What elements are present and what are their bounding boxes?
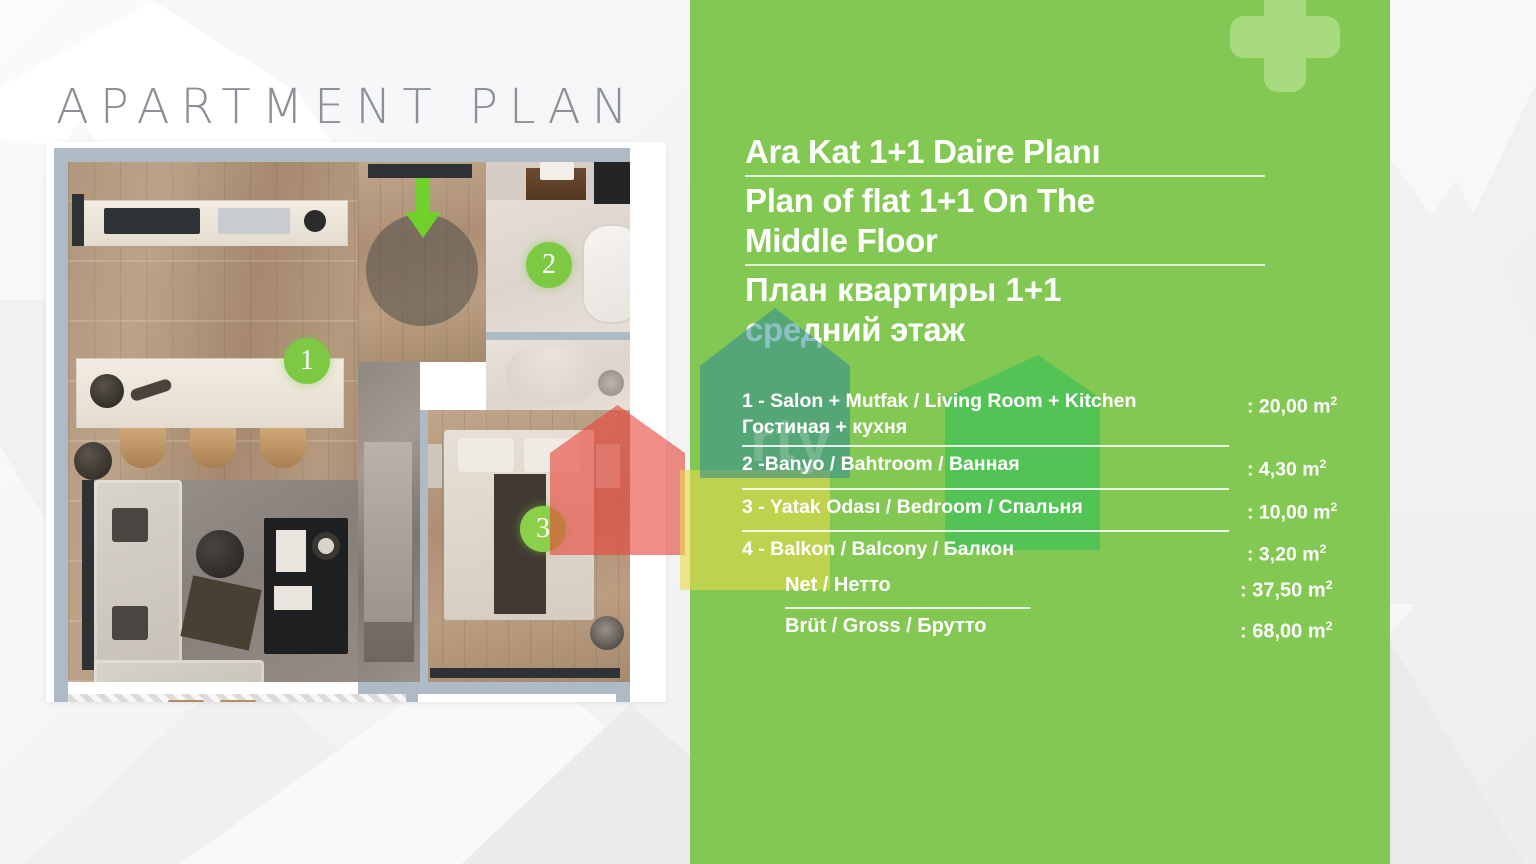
sofa-cushion <box>112 606 148 640</box>
toilet <box>506 346 598 404</box>
legend-rule <box>742 488 1229 490</box>
sofa-chaise <box>94 660 264 682</box>
legend-value: : 20,00 m2 <box>1239 388 1382 420</box>
total-label: Brüt / Gross / Брутто <box>785 611 1240 641</box>
entrance-arrow-icon <box>402 178 444 240</box>
room-bedroom: 3 <box>420 410 630 682</box>
table-tray <box>274 586 312 610</box>
wardrobe <box>364 442 412 622</box>
room-living-kitchen: 1 <box>68 162 358 682</box>
totals-rule <box>785 607 1030 609</box>
wall-bottom-right <box>358 682 630 694</box>
bathroom-lower <box>486 340 630 410</box>
legend-label: 4 - Balkon / Balcony / Балкон <box>742 536 1239 562</box>
legend-row: 1 - Salon + Mutfak / Living Room + Kitch… <box>742 388 1382 443</box>
legend-label: 3 - Yatak Odası / Bedroom / Спальня <box>742 494 1239 520</box>
badge-room-2: 2 <box>526 242 572 288</box>
title-russian-line1: План квартиры 1+1 <box>745 270 1265 310</box>
legend-label: 2 -Banyo / Bahtroom / Ванная <box>742 451 1239 477</box>
legend-row: 4 - Balkon / Balcony / Балкон : 3,20 m2 <box>742 536 1382 571</box>
legend-label-ru: Гостиная + кухня <box>742 414 1239 440</box>
badge-room-3: 3 <box>520 506 566 552</box>
total-row-gross: Brüt / Gross / Брутто : 68,00 m2 <box>785 611 1385 647</box>
room-balcony: 4 <box>68 694 418 702</box>
legend-value: : 3,20 m2 <box>1239 536 1382 568</box>
bedroom-lamp <box>590 616 624 650</box>
room-bathroom: 2 <box>486 162 630 332</box>
title-russian-line2: средний этаж <box>745 310 1265 350</box>
title-turkish: Ara Kat 1+1 Daire Planı <box>745 132 1265 172</box>
wall-bath-bottom <box>486 332 630 340</box>
balcony-chair <box>220 700 256 702</box>
table-decor <box>312 532 340 560</box>
badge-room-1: 1 <box>284 338 330 384</box>
legend-rule <box>742 445 1229 447</box>
kitchen-pot <box>304 210 326 232</box>
legend-value: : 4,30 m2 <box>1239 451 1382 483</box>
wall-top <box>54 148 630 162</box>
title-rule <box>745 175 1265 177</box>
entry-hall <box>358 162 486 362</box>
bathroom-mirror <box>540 162 574 180</box>
total-value: : 37,50 m2 <box>1240 570 1333 606</box>
infographic-canvas: APARTMENT PLAN <box>0 0 1536 864</box>
floor-vase <box>74 442 112 480</box>
legend-rule <box>742 530 1229 532</box>
total-row-net: Net / Нетто : 37,50 m2 <box>785 570 1385 606</box>
plus-icon <box>1230 0 1340 92</box>
bath-accessory <box>598 370 624 396</box>
sink <box>218 208 290 234</box>
title-rule <box>745 264 1265 266</box>
pillow <box>524 438 580 472</box>
pouf <box>196 530 244 578</box>
title-english-line1: Plan of flat 1+1 On The <box>745 181 1265 221</box>
bar-stool <box>190 428 236 468</box>
bathtub <box>582 224 630 324</box>
legend-label: 1 - Salon + Mutfak / Living Room + Kitch… <box>742 388 1239 414</box>
title-english-line2: Middle Floor <box>745 221 1265 261</box>
entry-door <box>368 164 472 178</box>
room-legend: 1 - Salon + Mutfak / Living Room + Kitch… <box>742 388 1382 571</box>
cooktop <box>104 208 200 234</box>
legend-row: 3 - Yatak Odası / Bedroom / Спальня : 10… <box>742 494 1382 529</box>
total-value: : 68,00 m2 <box>1240 611 1333 647</box>
bedroom-threshold <box>430 668 620 678</box>
balcony-chair <box>168 700 204 702</box>
wall-bedroom-left <box>420 410 428 682</box>
page-title: APARTMENT PLAN <box>56 79 638 135</box>
info-panel: Ara Kat 1+1 Daire Planı Plan of flat 1+1… <box>690 0 1390 864</box>
total-label: Net / Нетто <box>785 570 1240 600</box>
island-bowl <box>90 374 124 408</box>
sofa-cushion <box>112 508 148 542</box>
legend-value: : 10,00 m2 <box>1239 494 1382 526</box>
floorplan-card: 1 2 <box>46 142 666 702</box>
fridge-edge <box>72 194 84 246</box>
plus-horizontal-bar <box>1230 16 1340 58</box>
bar-stool <box>120 428 166 468</box>
bar-stool <box>260 428 306 468</box>
shower-niche <box>594 162 630 204</box>
title-block: Ara Kat 1+1 Daire Planı Plan of flat 1+1… <box>745 132 1265 350</box>
wall-balcony-right <box>406 694 418 702</box>
nightstand <box>596 444 620 488</box>
sofa-shadow <box>82 480 94 670</box>
wall-left <box>54 148 68 702</box>
pillow <box>458 438 514 472</box>
table-book <box>276 530 306 572</box>
legend-row: 2 -Banyo / Bahtroom / Ванная : 4,30 m2 <box>742 451 1382 486</box>
floorplan-image: 1 2 <box>46 142 666 702</box>
totals-block: Net / Нетто : 37,50 m2 Brüt / Gross / Бр… <box>785 570 1385 646</box>
